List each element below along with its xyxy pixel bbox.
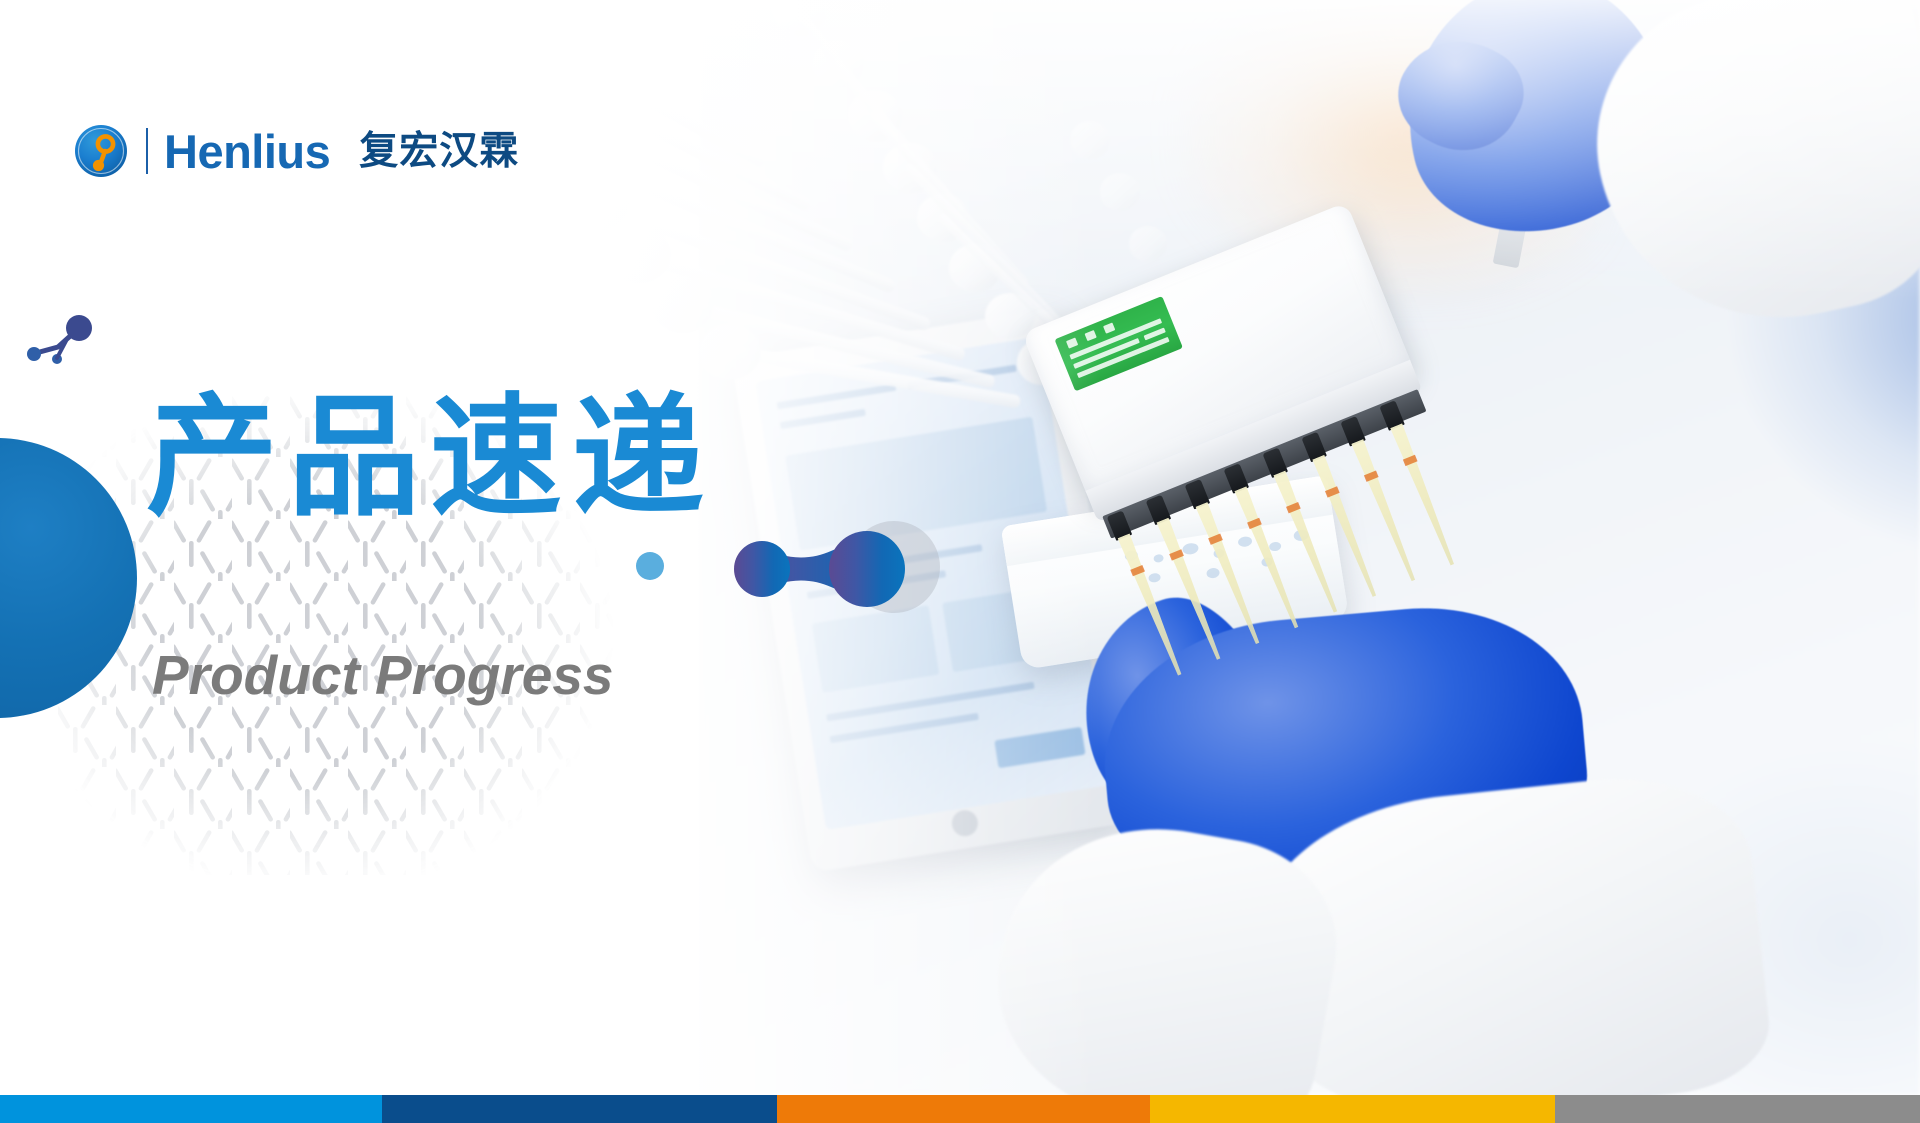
bar-segment-light-blue [0,1095,382,1123]
brand-logo[interactable]: Henlius 复宏汉霖 [74,124,519,178]
brand-color-bar [0,1095,1920,1123]
bar-segment-dark-blue [382,1095,777,1123]
logo-divider [146,128,148,174]
henlius-circle-mark-icon [74,124,128,178]
bar-segment-yellow [1150,1095,1555,1123]
accent-dot-small [636,552,664,580]
mini-molecule-icon [22,313,102,371]
page-title-chinese: 产品速递 [146,385,714,533]
page-title-english: Product Progress [152,648,614,703]
bar-segment-orange [777,1095,1150,1123]
molecule-decoration [705,531,935,607]
logo-chinese-name: 复宏汉霖 [359,132,519,171]
bar-segment-gray [1555,1095,1920,1123]
logo-english-name: Henlius [164,128,330,175]
slide-canvas: Henlius 复宏汉霖 产品速递 Product Progress [0,0,1920,1123]
